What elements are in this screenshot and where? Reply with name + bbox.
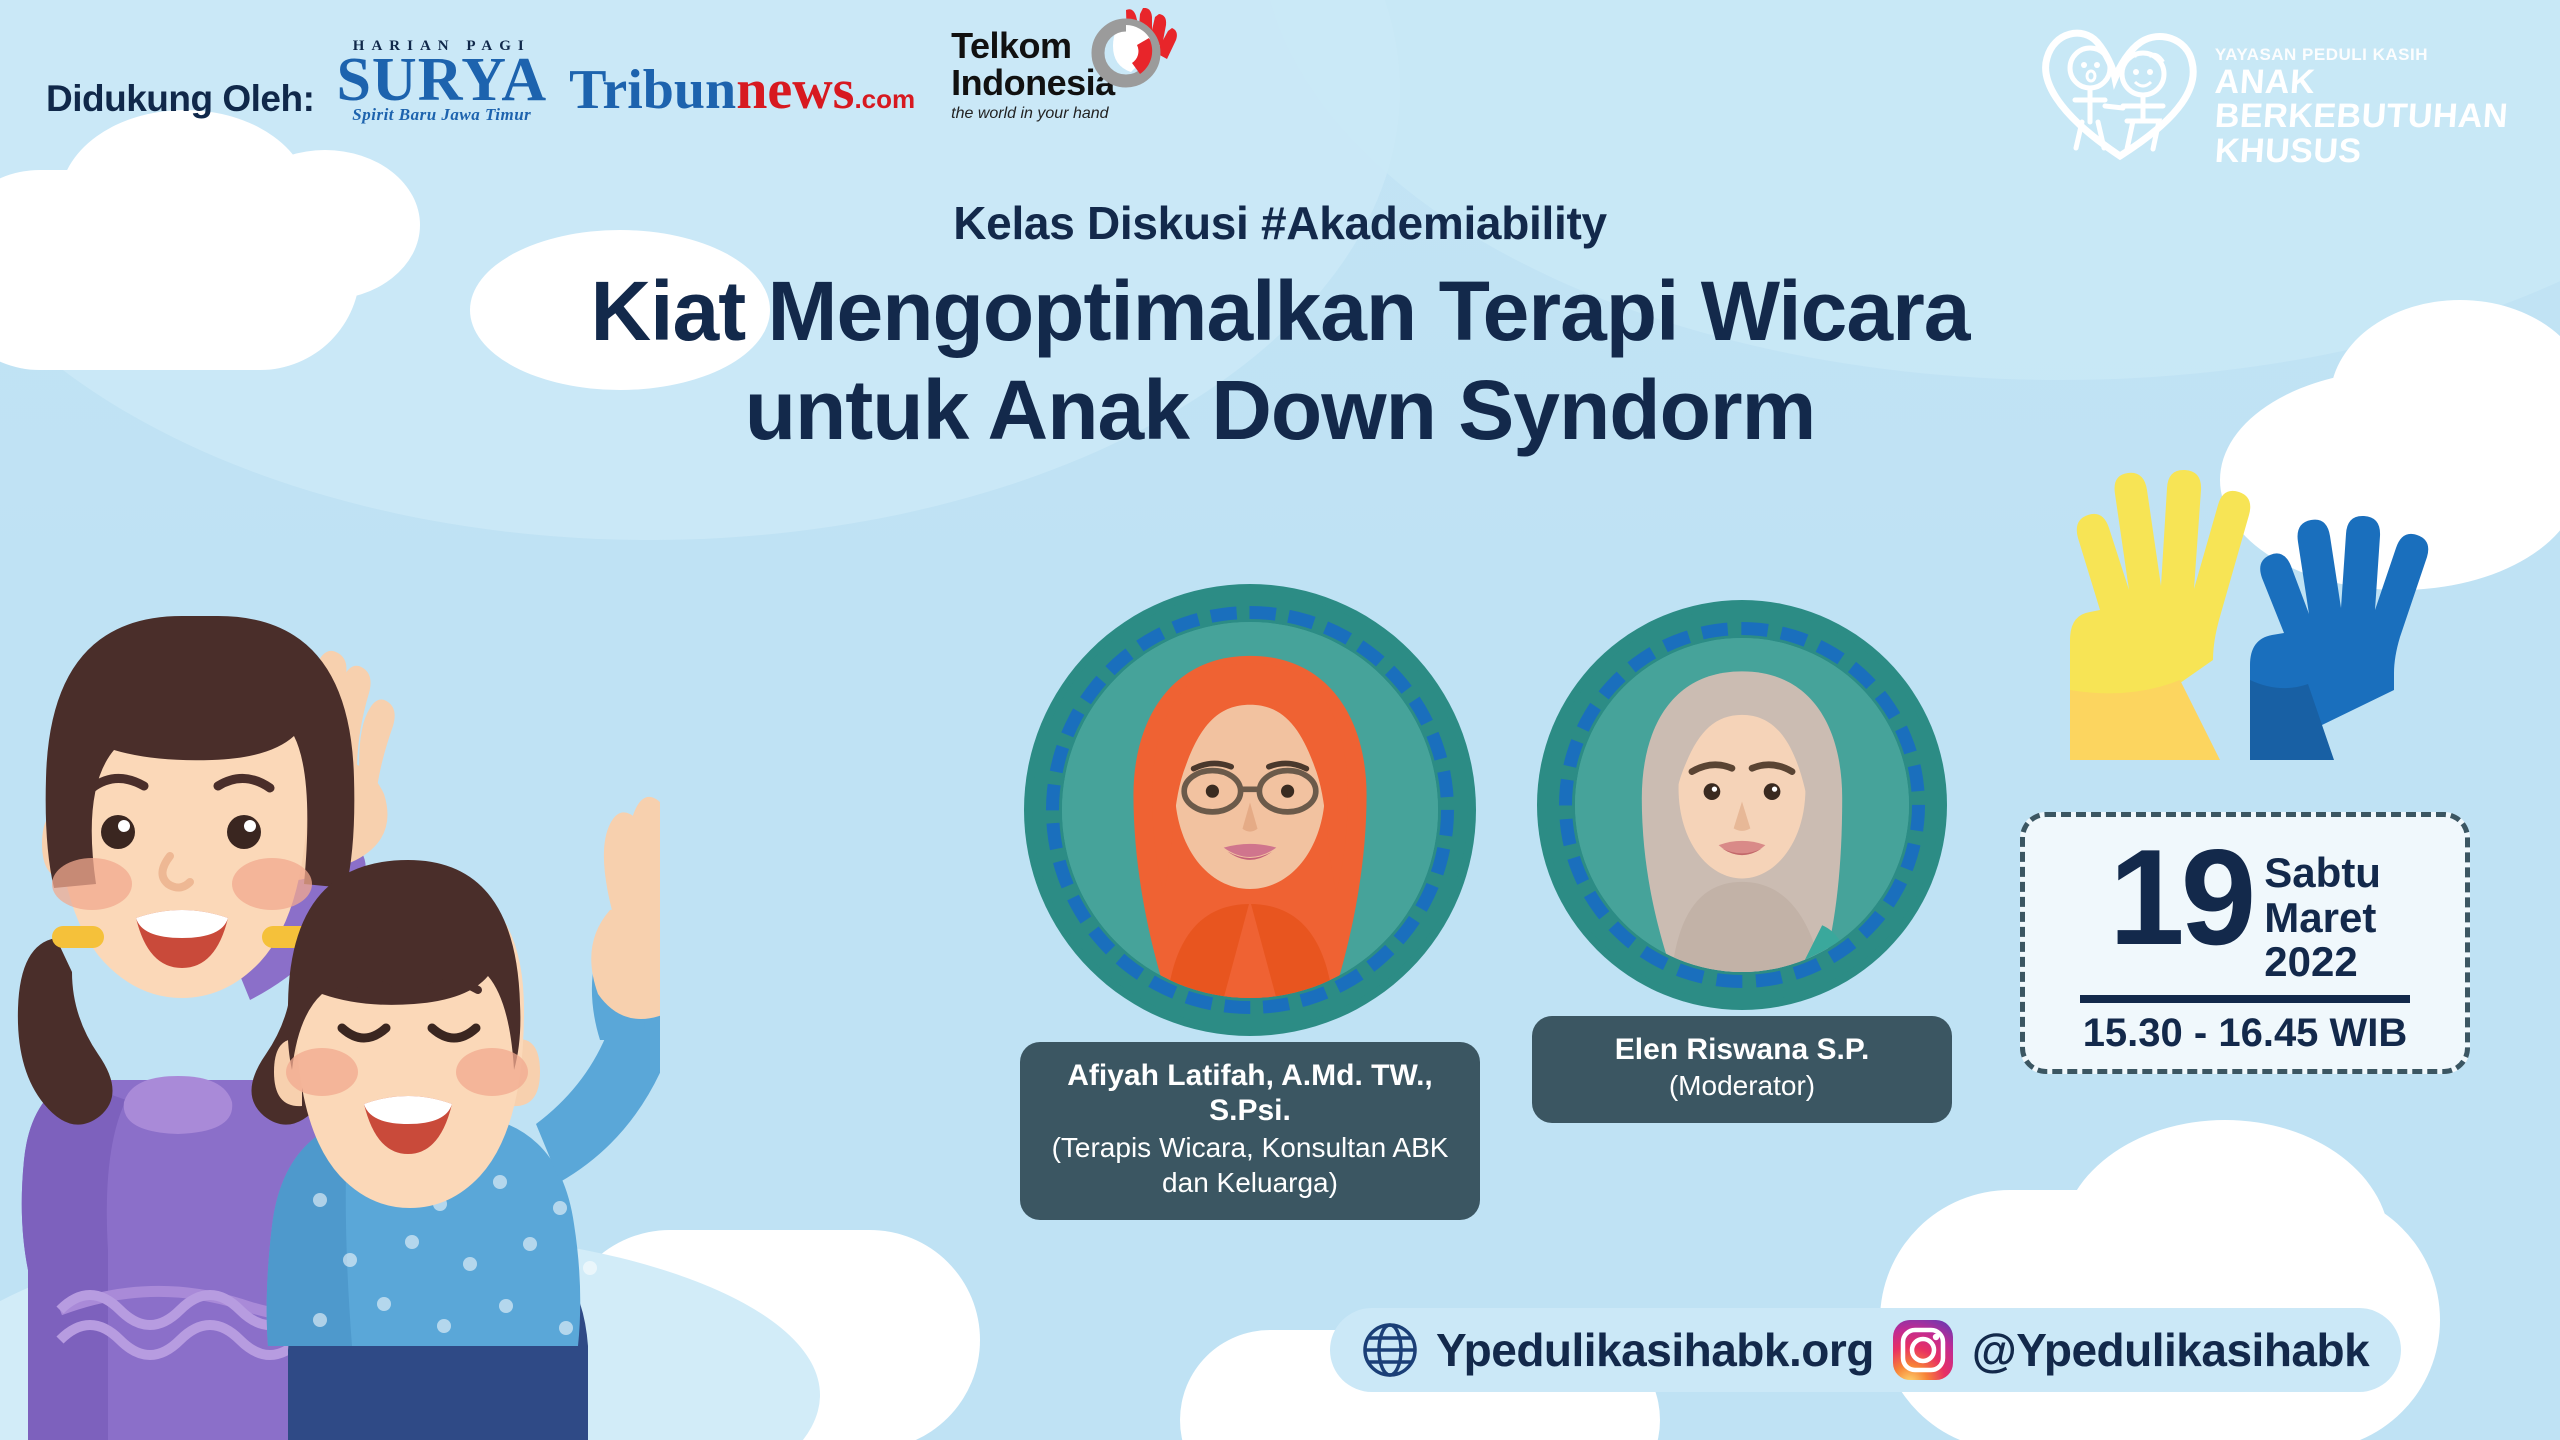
event-year: 2022 [2264, 940, 2381, 985]
event-day-number: 19 [2109, 839, 2252, 956]
foundation-name-line1: YAYASAN PEDULI KASIH [2215, 46, 2508, 65]
tribun-wordmark-part2: news [736, 65, 854, 115]
event-month: Maret [2264, 896, 2381, 941]
instagram-icon [1892, 1319, 1954, 1381]
globe-icon [1362, 1322, 1418, 1378]
date-card-divider [2080, 995, 2410, 1003]
avatar [1032, 592, 1468, 1028]
woman-beige-hijab-portrait [1575, 638, 1909, 972]
event-date-row: 19 Sabtu Maret 2022 [2109, 839, 2381, 985]
tribun-wordmark-part1: Tribun [569, 65, 736, 115]
poster-canvas: Didukung Oleh: HARIAN PAGI SURYA Spirit … [0, 0, 2560, 1440]
telkom-logo: Telkom Indonesia the world in your hand [951, 28, 1115, 129]
event-date-text: Sabtu Maret 2022 [2264, 839, 2381, 985]
children-illustration [0, 520, 660, 1440]
foundation-name-line4: KHUSUS [2214, 134, 2510, 169]
foundation-logo: YAYASAN PEDULI KASIH ANAK BERKEBUTUHAN K… [2035, 16, 2508, 169]
tribunnews-logo: Tribun news .com [569, 65, 915, 129]
speaker-photo-2 [1575, 638, 1909, 972]
boy-character [267, 797, 660, 1440]
tribun-wordmark-part3: .com [854, 84, 915, 115]
foundation-logo-text: YAYASAN PEDULI KASIH ANAK BERKEBUTUHAN K… [2215, 16, 2508, 169]
woman-orange-hijab-portrait [1062, 622, 1438, 998]
speaker-photo-1 [1062, 622, 1438, 998]
supported-by-label: Didukung Oleh: [46, 80, 314, 129]
speaker-name-card-1: Afiyah Latifah, A.Md. TW., S.Psi. (Terap… [1020, 1042, 1480, 1220]
waving-hands-illustration [2040, 430, 2560, 760]
event-kicker: Kelas Diskusi #Akademiability [0, 196, 2560, 250]
website-pill[interactable]: Ypedulikasihabk.org @Ypedulikasihabk [1330, 1308, 2401, 1392]
instagram-label: @Ypedulikasihabk [1972, 1323, 2369, 1377]
blue-hand-icon [2250, 516, 2428, 760]
telkom-tagline: the world in your hand [951, 105, 1115, 123]
speaker-name-1: Afiyah Latifah, A.Md. TW., S.Psi. [1040, 1058, 1460, 1129]
speaker-name-2: Elen Riswana S.P. [1552, 1032, 1932, 1067]
surya-logo: HARIAN PAGI SURYA Spirit Baru Jawa Timur [336, 38, 547, 130]
yellow-hand-icon [2070, 470, 2250, 760]
contact-footer: Ypedulikasihabk.org @Ypedulikasihabk [1330, 1308, 2401, 1392]
heart-children-icon [2035, 16, 2205, 166]
foundation-name-line2: ANAK [2214, 65, 2510, 100]
speaker-role-1-line2: dan Keluarga) [1040, 1166, 1460, 1200]
speaker-name-card-2: Elen Riswana S.P. (Moderator) [1532, 1016, 1952, 1123]
speaker-role-1-line1: (Terapis Wicara, Konsultan ABK [1040, 1131, 1460, 1165]
surya-wordmark: SURYA [336, 51, 547, 110]
page-title-line2: untuk Anak Down Syndorm [0, 361, 2560, 460]
avatar [1545, 608, 1939, 1002]
page-title-line1: Kiat Mengoptimalkan Terapi Wicara [0, 262, 2560, 361]
event-date-card: 19 Sabtu Maret 2022 15.30 - 16.45 WIB [2020, 812, 2470, 1074]
event-weekday: Sabtu [2264, 851, 2381, 896]
foundation-name-line3: BERKEBUTUHAN [2214, 99, 2510, 134]
surya-tagline: Spirit Baru Jawa Timur [336, 105, 547, 125]
website-label: Ypedulikasihabk.org [1436, 1323, 1874, 1377]
telkom-hand-mark [1071, 8, 1181, 100]
sponsor-bar: Didukung Oleh: HARIAN PAGI SURYA Spirit … [46, 28, 1115, 129]
speaker-card-1: Afiyah Latifah, A.Md. TW., S.Psi. (Terap… [1020, 592, 1480, 1220]
event-time: 15.30 - 16.45 WIB [2083, 1011, 2408, 1056]
page-title: Kiat Mengoptimalkan Terapi Wicara untuk … [0, 262, 2560, 460]
speaker-card-2: Elen Riswana S.P. (Moderator) [1532, 608, 1952, 1123]
speaker-role-2-line1: (Moderator) [1552, 1069, 1932, 1103]
